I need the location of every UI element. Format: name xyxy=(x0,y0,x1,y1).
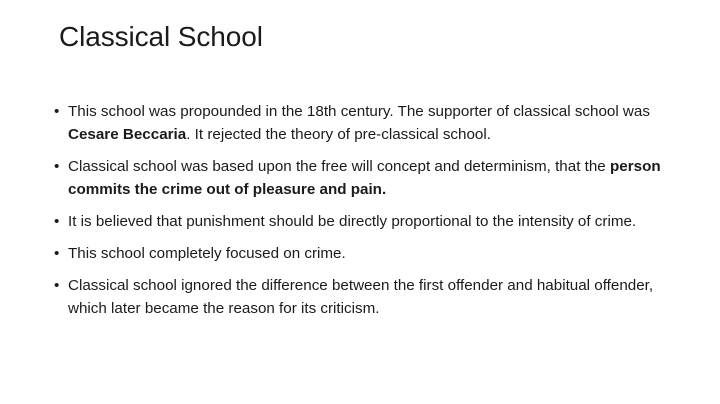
list-item-text: Classical school ignored the difference … xyxy=(68,274,668,320)
bullet-point-icon: • xyxy=(54,274,59,297)
list-item: •This school completely focused on crime… xyxy=(52,242,668,265)
bullet-point-icon: • xyxy=(54,155,59,178)
plain-text: Classical school ignored the difference … xyxy=(68,277,653,317)
slide-canvas: Classical School •This school was propou… xyxy=(0,0,720,404)
plain-text: This school was propounded in the 18th c… xyxy=(68,103,650,120)
list-item-text: It is believed that punishment should be… xyxy=(68,210,668,233)
bullet-point-icon: • xyxy=(54,100,59,123)
list-item-text: This school completely focused on crime. xyxy=(68,242,668,265)
plain-text: This school completely focused on crime. xyxy=(68,245,346,262)
plain-text: It is believed that punishment should be… xyxy=(68,213,636,230)
plain-text: . It rejected the theory of pre-classica… xyxy=(186,126,491,143)
list-item-text: This school was propounded in the 18th c… xyxy=(68,100,668,146)
list-item: •It is believed that punishment should b… xyxy=(52,210,668,233)
page-title: Classical School xyxy=(59,20,263,54)
list-item: •Classical school ignored the difference… xyxy=(52,274,668,320)
bullet-point-icon: • xyxy=(54,242,59,265)
list-item-text: Classical school was based upon the free… xyxy=(68,155,668,201)
plain-text: Classical school was based upon the free… xyxy=(68,158,610,175)
emphasis-text: Cesare Beccaria xyxy=(68,126,186,143)
bullet-list: •This school was propounded in the 18th … xyxy=(52,100,668,320)
list-item: •This school was propounded in the 18th … xyxy=(52,100,668,146)
bullet-point-icon: • xyxy=(54,210,59,233)
list-item: •Classical school was based upon the fre… xyxy=(52,155,668,201)
